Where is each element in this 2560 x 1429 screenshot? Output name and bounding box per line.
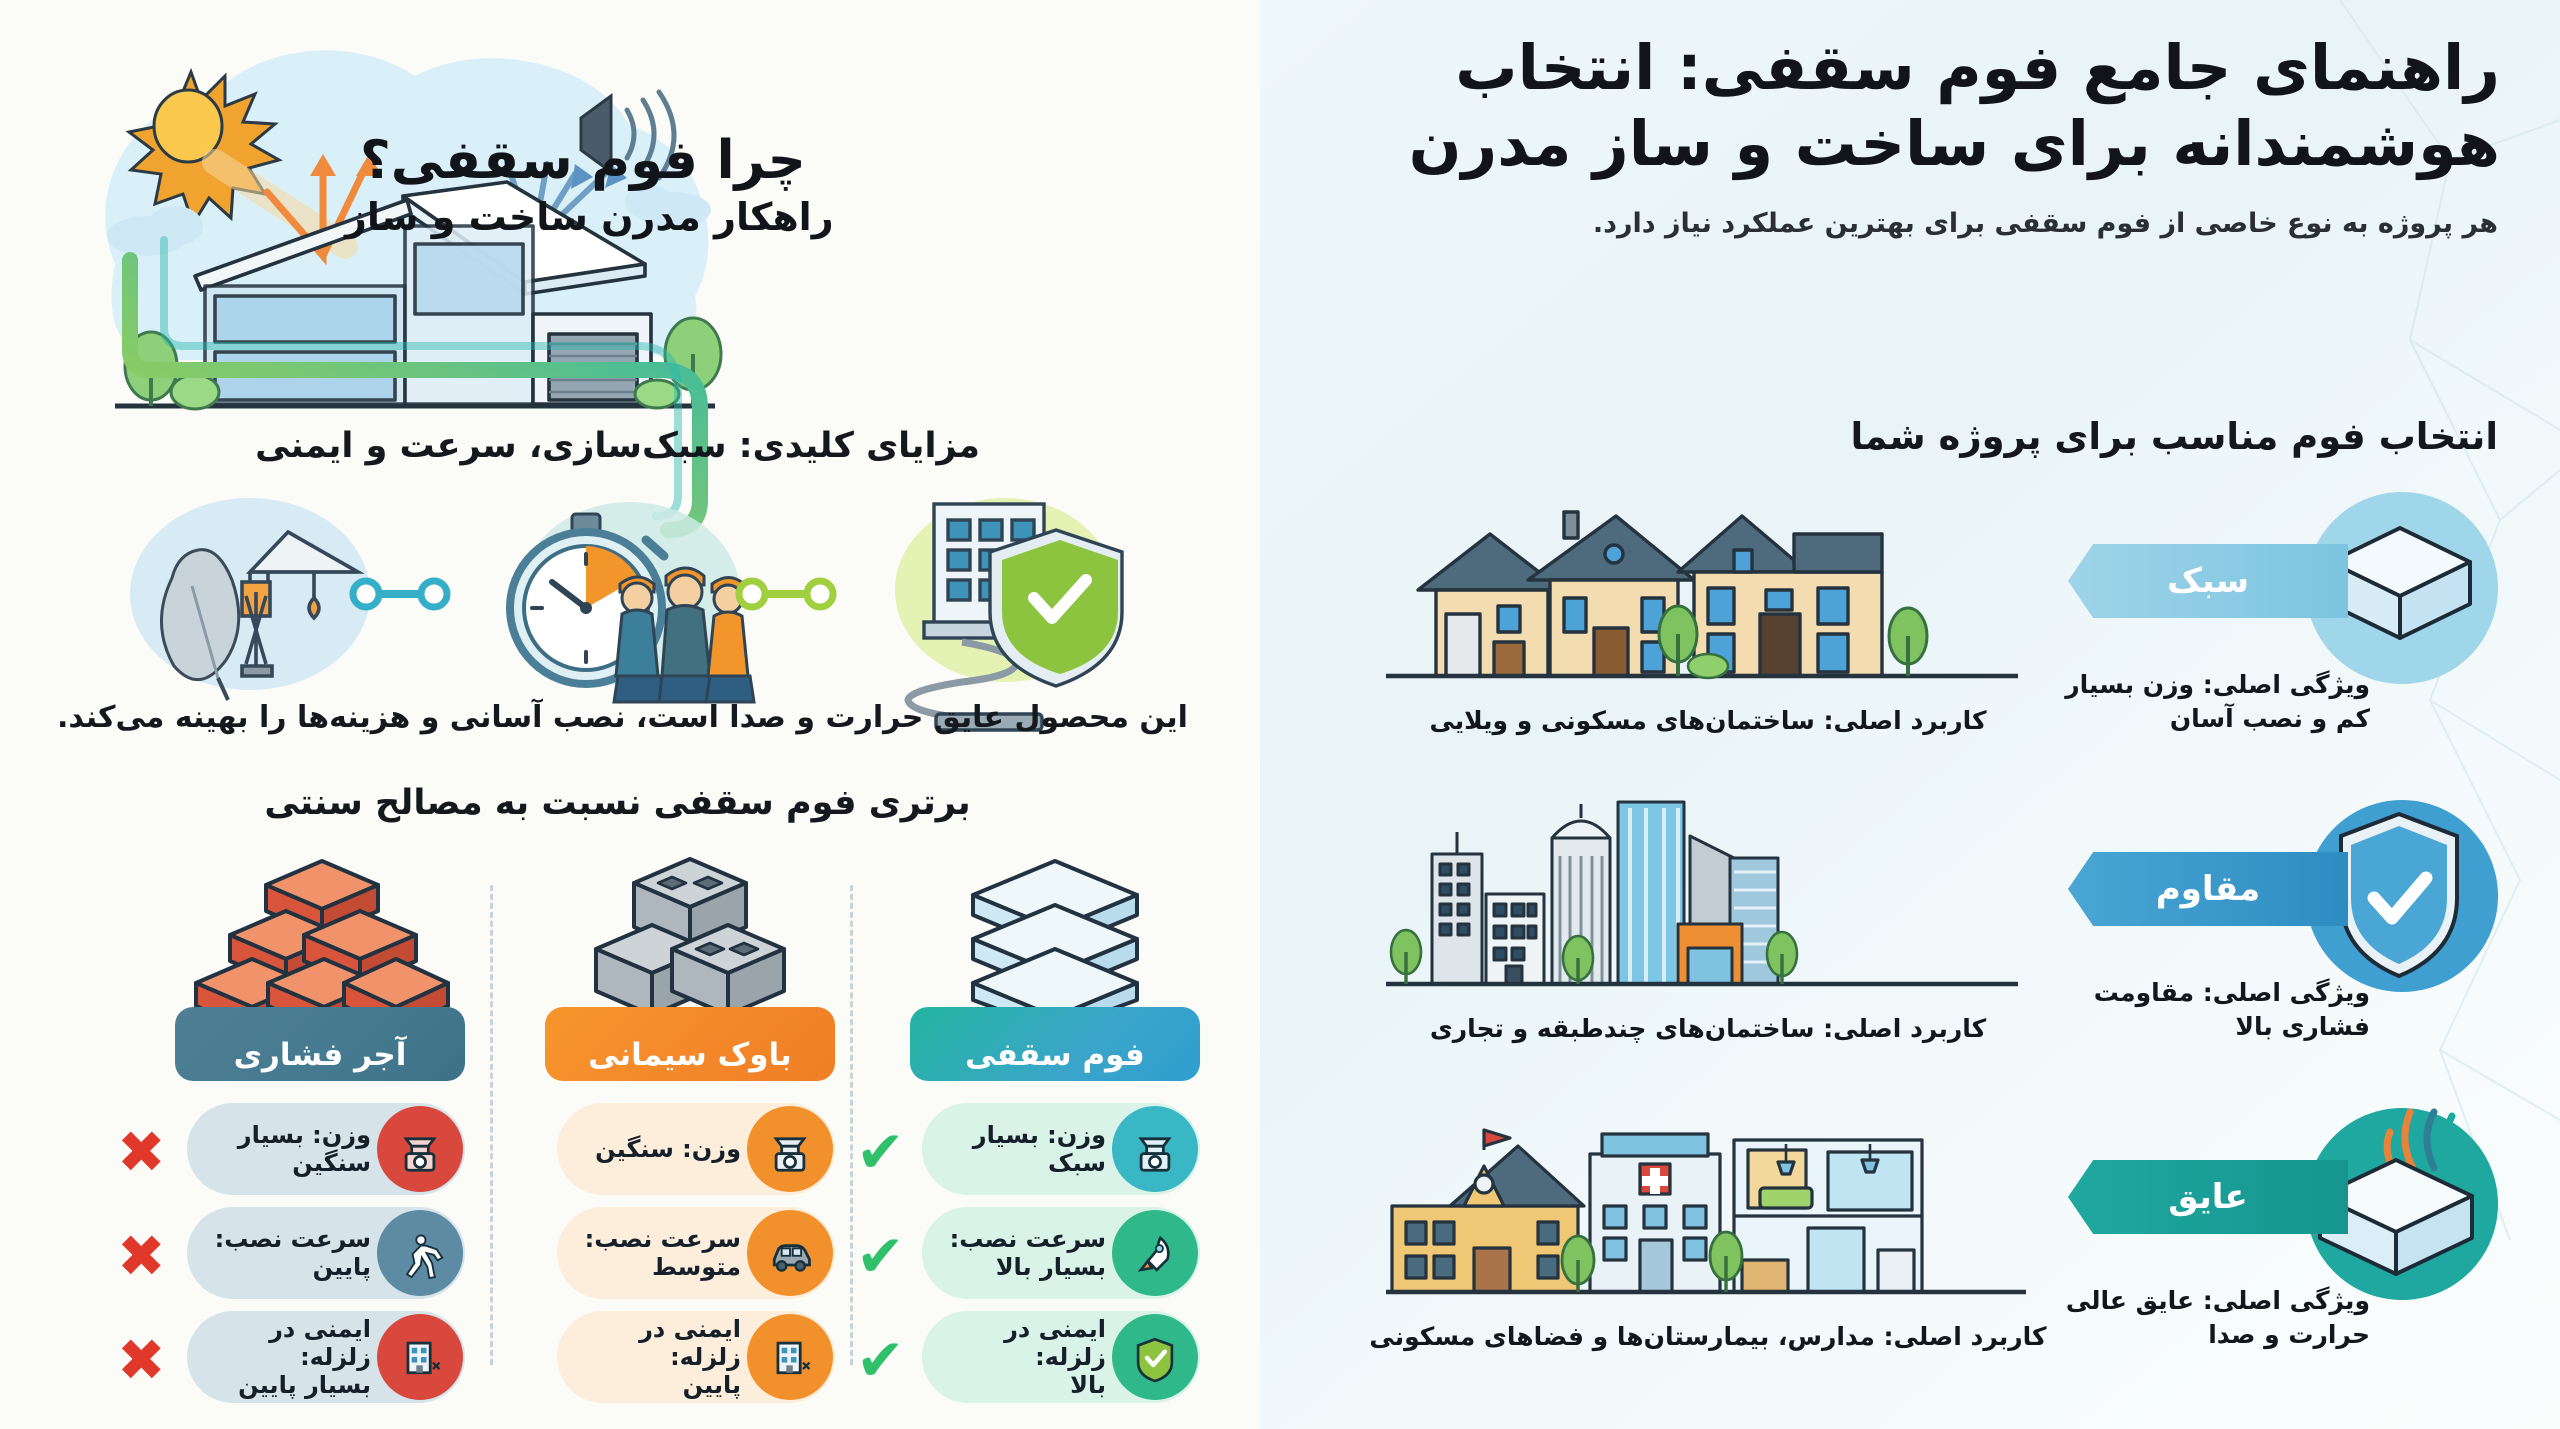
compare-row-weight: وزن: بسیار سبک: [922, 1103, 1200, 1195]
compare-row-speed-text: سرعت نصب: متوسط: [569, 1225, 741, 1282]
scale-icon: [1112, 1106, 1198, 1192]
benefits-title: مزایای کلیدی: سبک‌سازی، سرعت و ایمنی: [0, 426, 1235, 466]
compare-column-brick: آجر فشاری وزن: بسیار سنگین ✖: [145, 855, 495, 1395]
compare-row-speed: سرعت نصب: پایین: [187, 1207, 465, 1299]
connector-dot-1: [353, 581, 447, 607]
compare-row-safety-text: ایمنی در زلزله: بالا: [934, 1315, 1106, 1400]
compare-row-speed: سرعت نصب: بسیار بالا: [922, 1207, 1200, 1299]
foam-blocks-stack-icon: [925, 855, 1185, 1030]
cement-block-stack-icon: [560, 855, 820, 1030]
compare-title: برتری فوم سقفی نسبت به مصالح سنتی: [0, 783, 1235, 823]
left-panel-title: چرا فوم سقفی؟ راهکار مدرن ساخت و ساز: [0, 128, 1245, 242]
connector-dot-2: [739, 581, 833, 607]
compare-row-weight-text: وزن: بسیار سبک: [934, 1121, 1106, 1178]
red-brick-stack-icon: [190, 855, 450, 1030]
left-title-line2: راهکار مدرن ساخت و ساز: [0, 194, 1245, 242]
compare-row-weight: وزن: بسیار سنگین: [187, 1103, 465, 1195]
workers-icon: [614, 568, 754, 702]
benefits-caption: این محصول عایق حرارت و صدا است، نصب آسان…: [0, 700, 1245, 735]
compare-row-weight-text: وزن: بسیار سنگین: [199, 1121, 371, 1178]
option-row-strong: مقاوم ویژگی اصلی: مقاومت فشاری بالا: [1318, 800, 2498, 1100]
compare-column-foam: فوم سقفی وزن: بسیار سبک ✔: [880, 855, 1230, 1395]
compare-row-safety: ایمنی در زلزله: بسیار پایین: [187, 1311, 465, 1403]
option-feature-light: ویژگی اصلی: وزن بسیار کم و نصب آسان: [2040, 668, 2370, 736]
page-subtitle: هر پروژه به نوع خاصی از فوم سقفی برای به…: [1318, 208, 2498, 239]
benefits-icon-row: [100, 486, 1220, 701]
option-badge-insulation: عایق: [2068, 1160, 2348, 1234]
shield-check-icon: [1112, 1314, 1198, 1400]
option-usage-light: کاربرد اصلی: ساختمان‌های مسکونی و ویلایی: [1328, 706, 2088, 735]
option-badge-strong: مقاوم: [2068, 852, 2348, 926]
compare-row-safety: ایمنی در زلزله: پایین: [557, 1311, 835, 1403]
compare-label-brick: آجر فشاری: [175, 1007, 465, 1081]
compare-column-block: باوک سیمانی وزن: سنگین: [515, 855, 865, 1395]
walking-icon: [377, 1210, 463, 1296]
compare-row-safety: ایمنی در زلزله: بالا: [922, 1311, 1200, 1403]
option-badge-light: سبک: [2068, 544, 2348, 618]
compare-row-weight: وزن: سنگین: [557, 1103, 835, 1195]
option-feature-strong: ویژگی اصلی: مقاومت فشاری بالا: [2040, 976, 2370, 1044]
scene-highrise-commercial: [1378, 802, 2038, 1010]
left-title-line1: چرا فوم سقفی؟: [0, 128, 1245, 194]
compare-label-block: باوک سیمانی: [545, 1007, 835, 1081]
scale-icon: [747, 1106, 833, 1192]
scene-school-hospital-home: [1378, 1110, 2038, 1318]
option-usage-insulation: کاربرد اصلی: مدارس، بیمارستان‌ها و فضاها…: [1328, 1322, 2088, 1351]
option-usage-strong: کاربرد اصلی: ساختمان‌های چندطبقه و تجاری: [1328, 1014, 2088, 1043]
car-icon: [747, 1210, 833, 1296]
compare-row-speed: سرعت نصب: متوسط: [557, 1207, 835, 1299]
compare-label-foam: فوم سقفی: [910, 1007, 1200, 1081]
compare-row-speed-text: سرعت نصب: پایین: [199, 1225, 371, 1282]
compare-row-safety-text: ایمنی در زلزله: بسیار پایین: [199, 1315, 371, 1400]
page-title: راهنمای جامع فوم سقفی: انتخاب هوشمندانه …: [1320, 30, 2500, 181]
comparison-grid: فوم سقفی وزن: بسیار سبک ✔: [120, 855, 1250, 1395]
scale-icon: [377, 1106, 463, 1192]
selector-section-title: انتخاب فوم مناسب برای پروژه شما: [1318, 415, 2498, 458]
compare-row-weight-text: وزن: سنگین: [569, 1135, 741, 1163]
building-x-icon: [747, 1314, 833, 1400]
compare-row-speed-text: سرعت نصب: بسیار بالا: [934, 1225, 1106, 1282]
cross-icon: ✖: [117, 1123, 166, 1181]
cross-icon: ✖: [117, 1227, 166, 1285]
option-row-light: سبک ویژگی اصلی: وزن بسیار کم و نصب آسان: [1318, 492, 2498, 792]
scene-residential-villas: [1378, 494, 2038, 702]
infographic-root: چرا فوم سقفی؟ راهکار مدرن ساخت و ساز مزا…: [0, 0, 2560, 1429]
option-feature-insulation: ویژگی اصلی: عایق عالی حرارت و صدا: [2040, 1284, 2370, 1352]
rocket-icon: [1112, 1210, 1198, 1296]
option-row-insulation: عایق ویژگی اصلی: عایق عالی حرارت و صدا: [1318, 1108, 2498, 1408]
compare-row-safety-text: ایمنی در زلزله: پایین: [569, 1315, 741, 1400]
cross-icon: ✖: [117, 1331, 166, 1389]
building-x-icon: [377, 1314, 463, 1400]
